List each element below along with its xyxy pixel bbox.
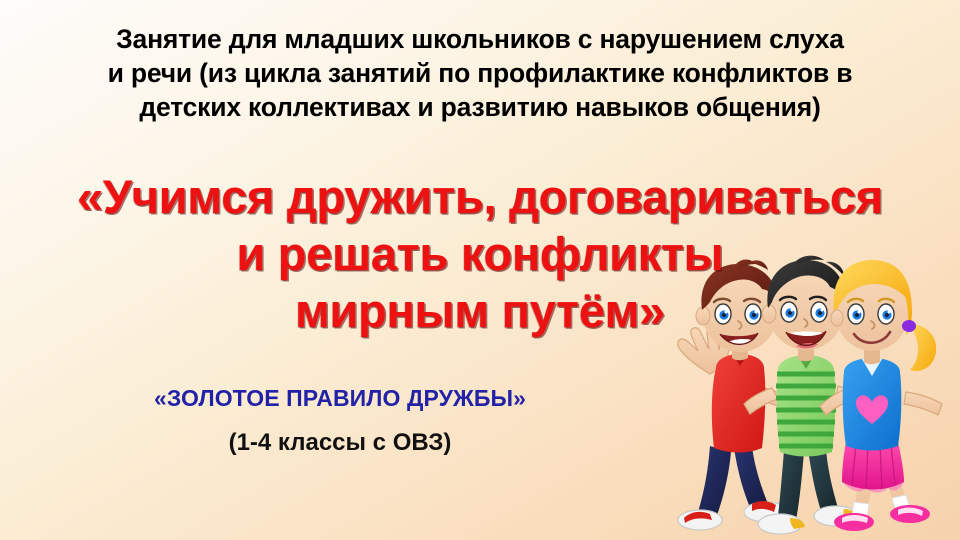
main-title-line-1: «Учимся дружить, договариваться — [40, 168, 920, 225]
grade-range-label: (1-4 классы с ОВЗ) — [40, 428, 640, 458]
slide-header-text: Занятие для младших школьников с нарушен… — [60, 22, 900, 124]
header-line-3: детских коллективах и развитию навыков о… — [60, 90, 900, 124]
page-title: «Учимся дружить, договариваться и решать… — [40, 168, 920, 339]
main-title-line-3: мирным путём» — [40, 282, 920, 339]
golden-rule-subtitle: «ЗОЛОТОЕ ПРАВИЛО ДРУЖБЫ» — [40, 384, 640, 412]
slide-canvas: Занятие для младших школьников с нарушен… — [0, 0, 960, 540]
header-line-1: Занятие для младших школьников с нарушен… — [60, 22, 900, 56]
main-title-line-2: и решать конфликты — [40, 225, 920, 282]
header-line-2: и речи (из цикла занятий по профилактике… — [60, 56, 900, 90]
